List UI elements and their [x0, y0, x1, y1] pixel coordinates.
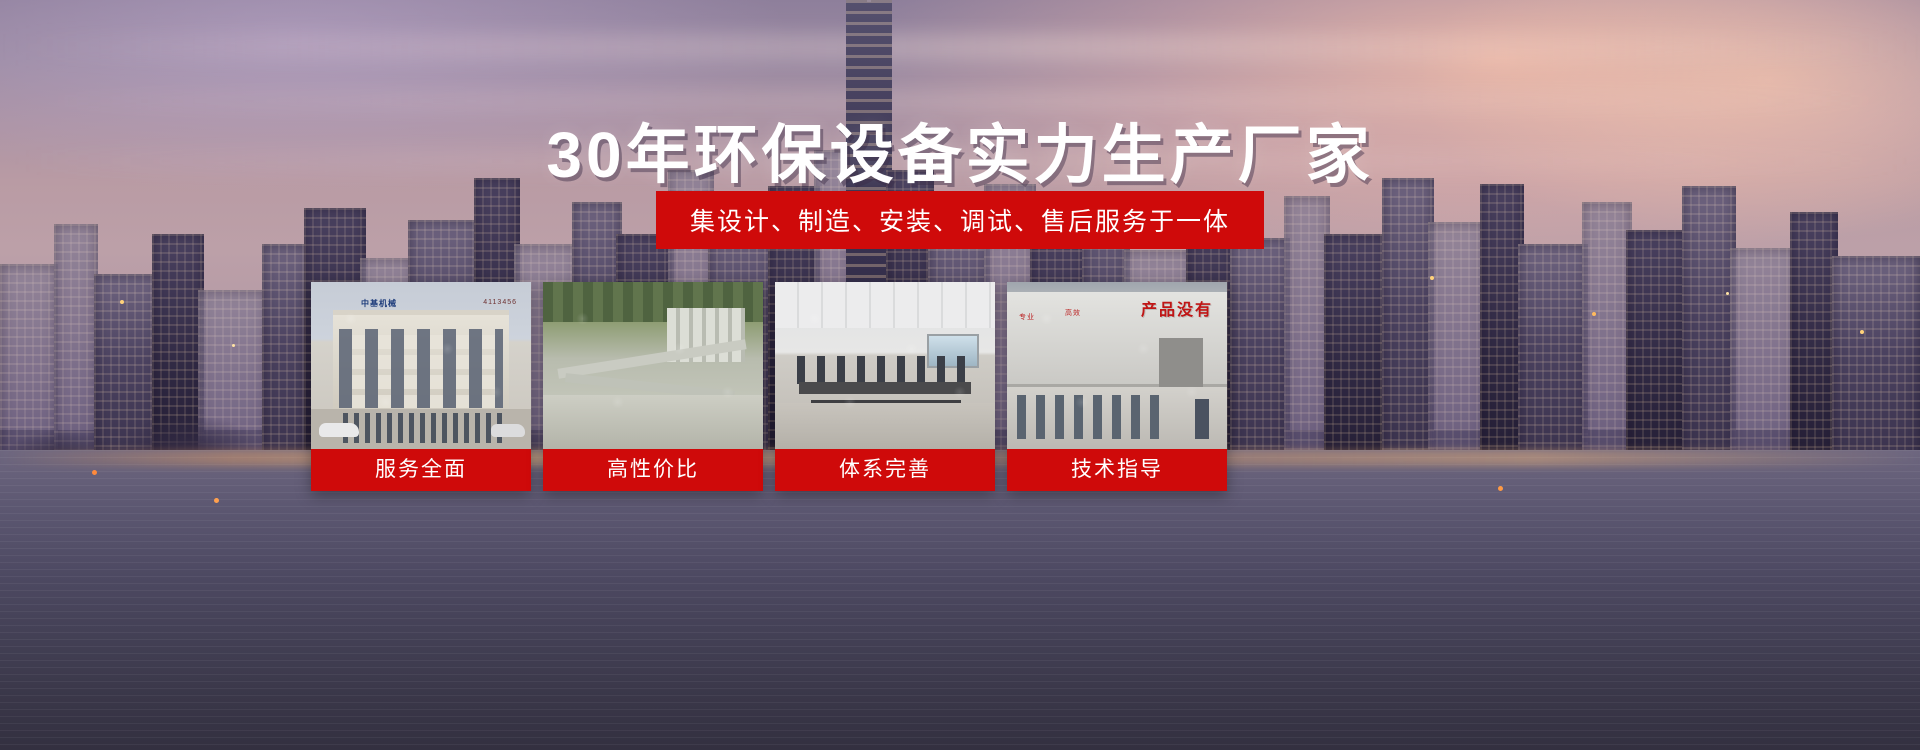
- building-phone-text: 4113456: [483, 299, 517, 306]
- feature-card[interactable]: 高性价比: [543, 282, 763, 491]
- feature-card[interactable]: 专业 高效 产品没有 技术指导: [1007, 282, 1227, 491]
- feature-card-list: 中基机械 4113456 服务全面 高性价比: [311, 282, 1227, 491]
- page-title: 30年环保设备实力生产厂家: [0, 104, 1920, 196]
- factory-wall-slogan-mid: 高效: [1065, 308, 1081, 318]
- hero-banner: 30年环保设备实力生产厂家 集设计、制造、安装、调试、售后服务于一体 中基机械 …: [0, 0, 1920, 750]
- card-label: 高性价比: [543, 449, 763, 491]
- subtitle-badge: 集设计、制造、安装、调试、售后服务于一体: [656, 191, 1264, 249]
- card-label: 技术指导: [1007, 449, 1227, 491]
- card-photo-aerial-plant: [543, 282, 763, 449]
- card-photo-office-building: 中基机械 4113456: [311, 282, 531, 449]
- factory-wall-slogan-left: 专业: [1019, 312, 1035, 322]
- card-label: 服务全面: [311, 449, 531, 491]
- card-label: 体系完善: [775, 449, 995, 491]
- building-sign-text: 中基机械: [361, 298, 397, 309]
- card-photo-office-interior: [775, 282, 995, 449]
- river-water: [0, 450, 1920, 750]
- feature-card[interactable]: 中基机械 4113456 服务全面: [311, 282, 531, 491]
- card-photo-factory-workers: 专业 高效 产品没有: [1007, 282, 1227, 449]
- factory-wall-headline: 产品没有: [1141, 296, 1213, 320]
- feature-card[interactable]: 体系完善: [775, 282, 995, 491]
